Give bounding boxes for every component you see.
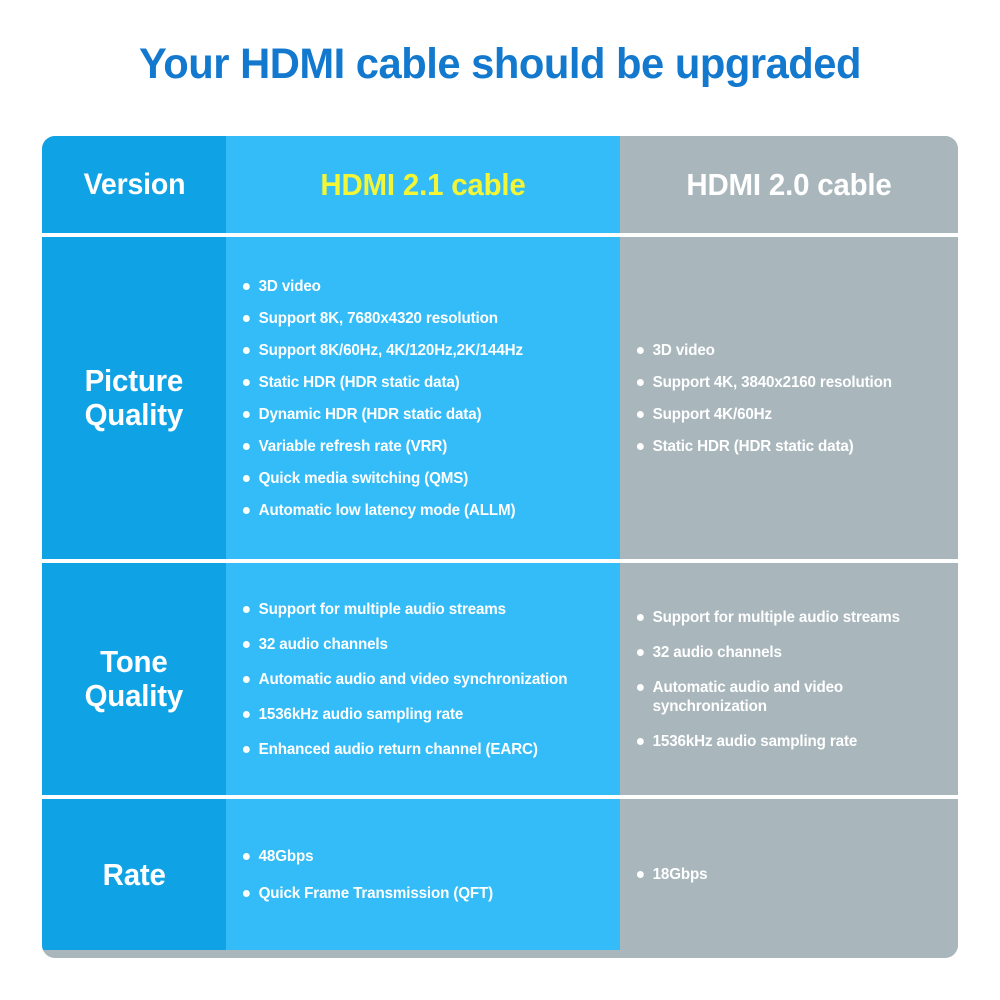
bullet-item: Support for multiple audio streams	[240, 600, 597, 619]
bullet-list: Support for multiple audio streams32 aud…	[240, 600, 604, 759]
bullet-item: Static HDR (HDR static data)	[634, 437, 936, 456]
bullet-item: 32 audio channels	[634, 643, 936, 662]
bullet-list: 3D videoSupport 4K, 3840x2160 resolution…	[634, 341, 942, 456]
bullet-item: 3D video	[634, 341, 936, 360]
bullet-list: 48GbpsQuick Frame Transmission (QFT)	[240, 847, 604, 903]
table-row-tone-quality: Tone Quality Support for multiple audio …	[42, 559, 958, 795]
bullet-item: Static HDR (HDR static data)	[240, 373, 597, 392]
bullet-item: Support 4K/60Hz	[634, 405, 936, 424]
bullet-item: Support 4K, 3840x2160 resolution	[634, 373, 936, 392]
bullet-item: Automatic low latency mode (ALLM)	[240, 501, 597, 520]
bullet-item: 1536kHz audio sampling rate	[634, 732, 936, 751]
table-header-row: Version HDMI 2.1 cable HDMI 2.0 cable	[42, 136, 958, 233]
row-label-cell-rate: Rate	[42, 799, 226, 950]
bullet-item: 3D video	[240, 277, 597, 296]
bullet-item: Support 8K, 7680x4320 resolution	[240, 309, 597, 328]
row-label-tone-quality: Tone Quality	[85, 645, 184, 713]
row-label-rate: Rate	[102, 858, 165, 892]
comparison-page: Your HDMI cable should be upgraded Versi…	[0, 0, 1000, 1000]
bullet-item: Support for multiple audio streams	[634, 608, 936, 627]
bullet-item: Dynamic HDR (HDR static data)	[240, 405, 597, 424]
cell-picture-quality-hdmi20: 3D videoSupport 4K, 3840x2160 resolution…	[620, 237, 958, 559]
header-hdmi21-label: HDMI 2.1 cable	[320, 168, 525, 202]
bullet-item: Variable refresh rate (VRR)	[240, 437, 597, 456]
cell-rate-hdmi21: 48GbpsQuick Frame Transmission (QFT)	[226, 799, 620, 950]
bullet-list: 3D videoSupport 8K, 7680x4320 resolution…	[240, 277, 604, 520]
bullet-item: Automatic audio and video synchronizatio…	[240, 670, 597, 689]
table-row-picture-quality: Picture Quality 3D videoSupport 8K, 7680…	[42, 233, 958, 559]
page-title: Your HDMI cable should be upgraded	[15, 38, 985, 90]
bullet-item: Quick media switching (QMS)	[240, 469, 597, 488]
bullet-item: 1536kHz audio sampling rate	[240, 705, 597, 724]
header-hdmi20-label: HDMI 2.0 cable	[686, 168, 891, 202]
bullet-item: Automatic audio and video synchronizatio…	[634, 678, 936, 716]
table-row-rate: Rate 48GbpsQuick Frame Transmission (QFT…	[42, 795, 958, 950]
bullet-item: 18Gbps	[634, 865, 936, 884]
bullet-item: 32 audio channels	[240, 635, 597, 654]
header-version-label: Version	[83, 168, 185, 202]
bullet-list: 18Gbps	[634, 865, 942, 884]
comparison-table: Version HDMI 2.1 cable HDMI 2.0 cable Pi…	[42, 136, 958, 958]
row-label-cell-picture-quality: Picture Quality	[42, 237, 226, 559]
row-label-cell-tone-quality: Tone Quality	[42, 563, 226, 795]
header-cell-hdmi20: HDMI 2.0 cable	[620, 136, 958, 233]
cell-rate-hdmi20: 18Gbps	[620, 799, 958, 950]
bullet-item: 48Gbps	[240, 847, 597, 866]
bullet-item: Support 8K/60Hz, 4K/120Hz,2K/144Hz	[240, 341, 597, 360]
cell-picture-quality-hdmi21: 3D videoSupport 8K, 7680x4320 resolution…	[226, 237, 620, 559]
row-label-picture-quality: Picture Quality	[85, 364, 184, 432]
cell-tone-quality-hdmi21: Support for multiple audio streams32 aud…	[226, 563, 620, 795]
header-cell-hdmi21: HDMI 2.1 cable	[226, 136, 620, 233]
bullet-list: Support for multiple audio streams32 aud…	[634, 608, 942, 751]
header-cell-version: Version	[42, 136, 226, 233]
bullet-item: Enhanced audio return channel (EARC)	[240, 740, 597, 759]
bullet-item: Quick Frame Transmission (QFT)	[240, 884, 597, 903]
cell-tone-quality-hdmi20: Support for multiple audio streams32 aud…	[620, 563, 958, 795]
